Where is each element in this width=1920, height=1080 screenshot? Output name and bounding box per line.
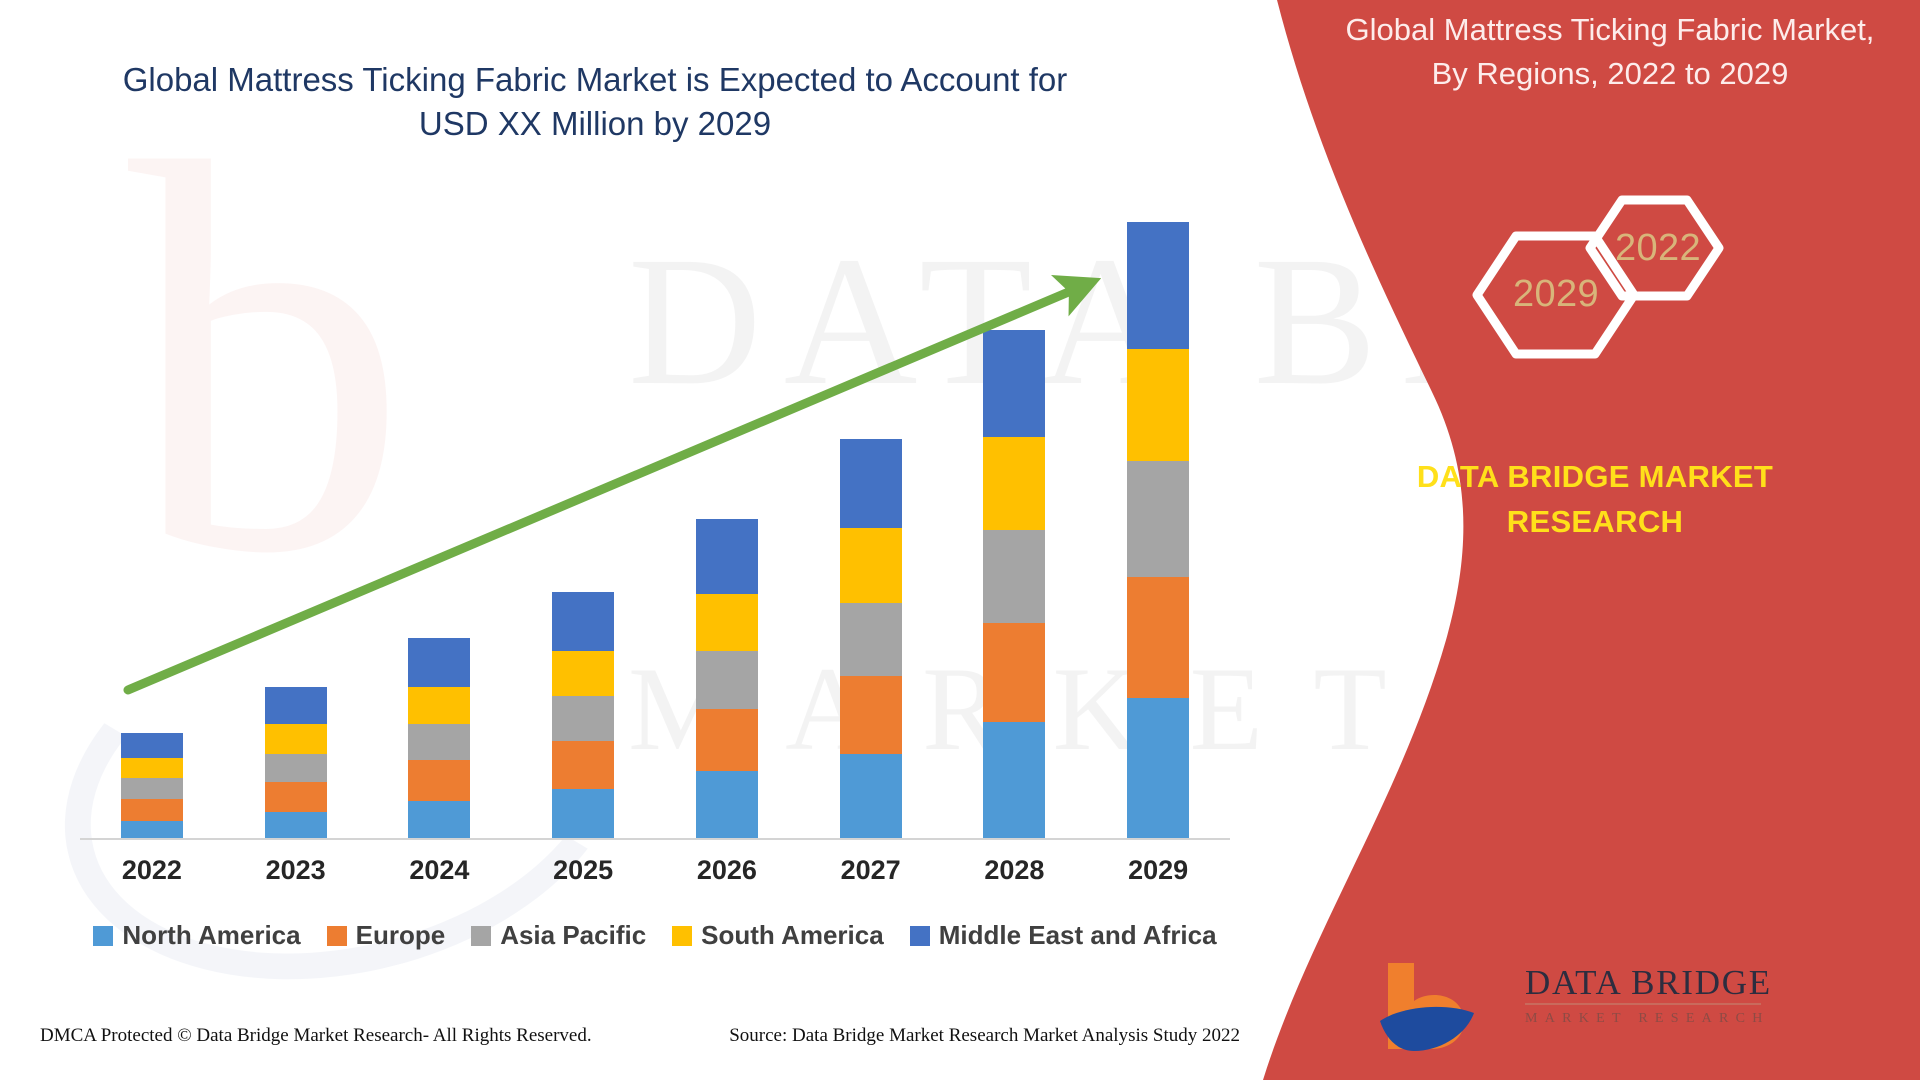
bar-segment	[696, 709, 758, 771]
bar-segment	[552, 696, 614, 741]
logo-wordmark: DATA BRIDGE MARKET RESEARCH	[1525, 965, 1772, 1027]
bar-segment	[1127, 349, 1189, 461]
legend-label: Europe	[356, 920, 446, 951]
footer-copyright: DMCA Protected © Data Bridge Market Rese…	[40, 1025, 592, 1047]
bar-2028	[983, 330, 1045, 838]
bar-segment	[552, 651, 614, 696]
plot-area	[80, 210, 1230, 840]
footer: DMCA Protected © Data Bridge Market Rese…	[40, 1025, 1240, 1047]
logo-divider	[1525, 1003, 1761, 1005]
x-axis-label-2025: 2025	[552, 855, 614, 886]
bar-2026	[696, 519, 758, 838]
bar-segment	[121, 821, 183, 838]
bar-segment	[840, 603, 902, 676]
bar-segment	[265, 782, 327, 812]
bar-2023	[265, 687, 327, 838]
brand-name-line-1: DATA BRIDGE MARKET	[1295, 455, 1895, 500]
bar-segment	[121, 733, 183, 757]
bar-segment	[983, 530, 1045, 623]
bar-segment	[121, 778, 183, 799]
hexagon-label-2029: 2029	[1513, 273, 1599, 316]
red-panel-title-line-1: Global Mattress Ticking Fabric Market,	[1300, 8, 1920, 52]
logo-sub-text: MARKET RESEARCH	[1525, 1011, 1772, 1027]
bar-segment	[552, 592, 614, 652]
hexagon-group: 2022 2029	[1270, 180, 1920, 410]
chart-title-line-2: USD XX Million by 2029	[60, 102, 1130, 146]
chart-legend: North AmericaEuropeAsia PacificSouth Ame…	[80, 920, 1230, 951]
red-panel-title-line-2: By Regions, 2022 to 2029	[1300, 52, 1920, 96]
chart-title-line-1: Global Mattress Ticking Fabric Market is…	[60, 58, 1130, 102]
x-axis-label-2027: 2027	[840, 855, 902, 886]
bar-segment	[696, 519, 758, 594]
bar-segment	[840, 528, 902, 603]
bar-segment	[408, 638, 470, 687]
bar-2029	[1127, 222, 1189, 838]
legend-label: Asia Pacific	[500, 920, 646, 951]
bar-segment	[265, 724, 327, 754]
bar-segment	[983, 330, 1045, 436]
bar-segment	[840, 754, 902, 838]
legend-item[interactable]: South America	[672, 920, 884, 951]
bar-segment	[552, 741, 614, 790]
footer-source: Source: Data Bridge Market Research Mark…	[729, 1025, 1240, 1047]
legend-swatch-icon	[672, 926, 692, 946]
bar-segment	[408, 687, 470, 724]
bar-segment	[983, 722, 1045, 838]
infographic-root: b DATA BRIDGE MARKET RESEARCH Global Mat…	[0, 0, 1920, 1080]
bar-segment	[983, 437, 1045, 530]
red-panel-title: Global Mattress Ticking Fabric Market, B…	[1300, 8, 1920, 96]
bar-segment	[983, 623, 1045, 722]
x-axis-label-2022: 2022	[121, 855, 183, 886]
x-axis-label-2028: 2028	[983, 855, 1045, 886]
legend-swatch-icon	[327, 926, 347, 946]
brand-name-line-2: RESEARCH	[1295, 500, 1895, 545]
bar-segment	[1127, 222, 1189, 349]
legend-label: North America	[122, 920, 300, 951]
x-axis-label-2029: 2029	[1127, 855, 1189, 886]
bar-2022	[121, 733, 183, 838]
bar-segment	[696, 771, 758, 838]
chart-title: Global Mattress Ticking Fabric Market is…	[60, 58, 1130, 146]
db-monogram-icon	[1370, 955, 1520, 1060]
legend-swatch-icon	[910, 926, 930, 946]
bar-2024	[408, 638, 470, 838]
bar-segment	[265, 812, 327, 838]
legend-item[interactable]: North America	[93, 920, 300, 951]
legend-item[interactable]: Asia Pacific	[471, 920, 646, 951]
bar-segment	[840, 676, 902, 754]
bar-segment	[1127, 461, 1189, 577]
legend-swatch-icon	[93, 926, 113, 946]
bar-segment	[840, 439, 902, 529]
bar-2027	[840, 439, 902, 838]
x-axis-label-2023: 2023	[265, 855, 327, 886]
legend-label: Middle East and Africa	[939, 920, 1217, 951]
bar-segment	[265, 754, 327, 782]
bar-segment	[1127, 577, 1189, 698]
logo-main-text: DATA BRIDGE	[1525, 965, 1772, 1000]
x-axis-line	[80, 838, 1230, 840]
x-axis-label-2024: 2024	[408, 855, 470, 886]
bar-segment	[696, 594, 758, 652]
bar-segment	[408, 760, 470, 801]
legend-item[interactable]: Middle East and Africa	[910, 920, 1217, 951]
bar-segment	[265, 687, 327, 724]
legend-label: South America	[701, 920, 884, 951]
bar-2025	[552, 592, 614, 838]
bar-group	[80, 212, 1230, 838]
company-logo: DATA BRIDGE MARKET RESEARCH	[1370, 955, 1790, 1060]
red-panel-content: Global Mattress Ticking Fabric Market, B…	[1270, 0, 1920, 1080]
bar-segment	[121, 758, 183, 779]
bar-segment	[1127, 698, 1189, 838]
brand-name: DATA BRIDGE MARKET RESEARCH	[1295, 455, 1895, 545]
bar-segment	[408, 801, 470, 838]
bar-segment	[552, 789, 614, 838]
x-axis-label-2026: 2026	[696, 855, 758, 886]
bar-segment	[408, 724, 470, 759]
legend-item[interactable]: Europe	[327, 920, 446, 951]
bar-segment	[121, 799, 183, 821]
x-axis-labels: 20222023202420252026202720282029	[80, 855, 1230, 886]
bar-segment	[696, 651, 758, 709]
legend-swatch-icon	[471, 926, 491, 946]
hexagon-label-2022: 2022	[1615, 227, 1701, 270]
